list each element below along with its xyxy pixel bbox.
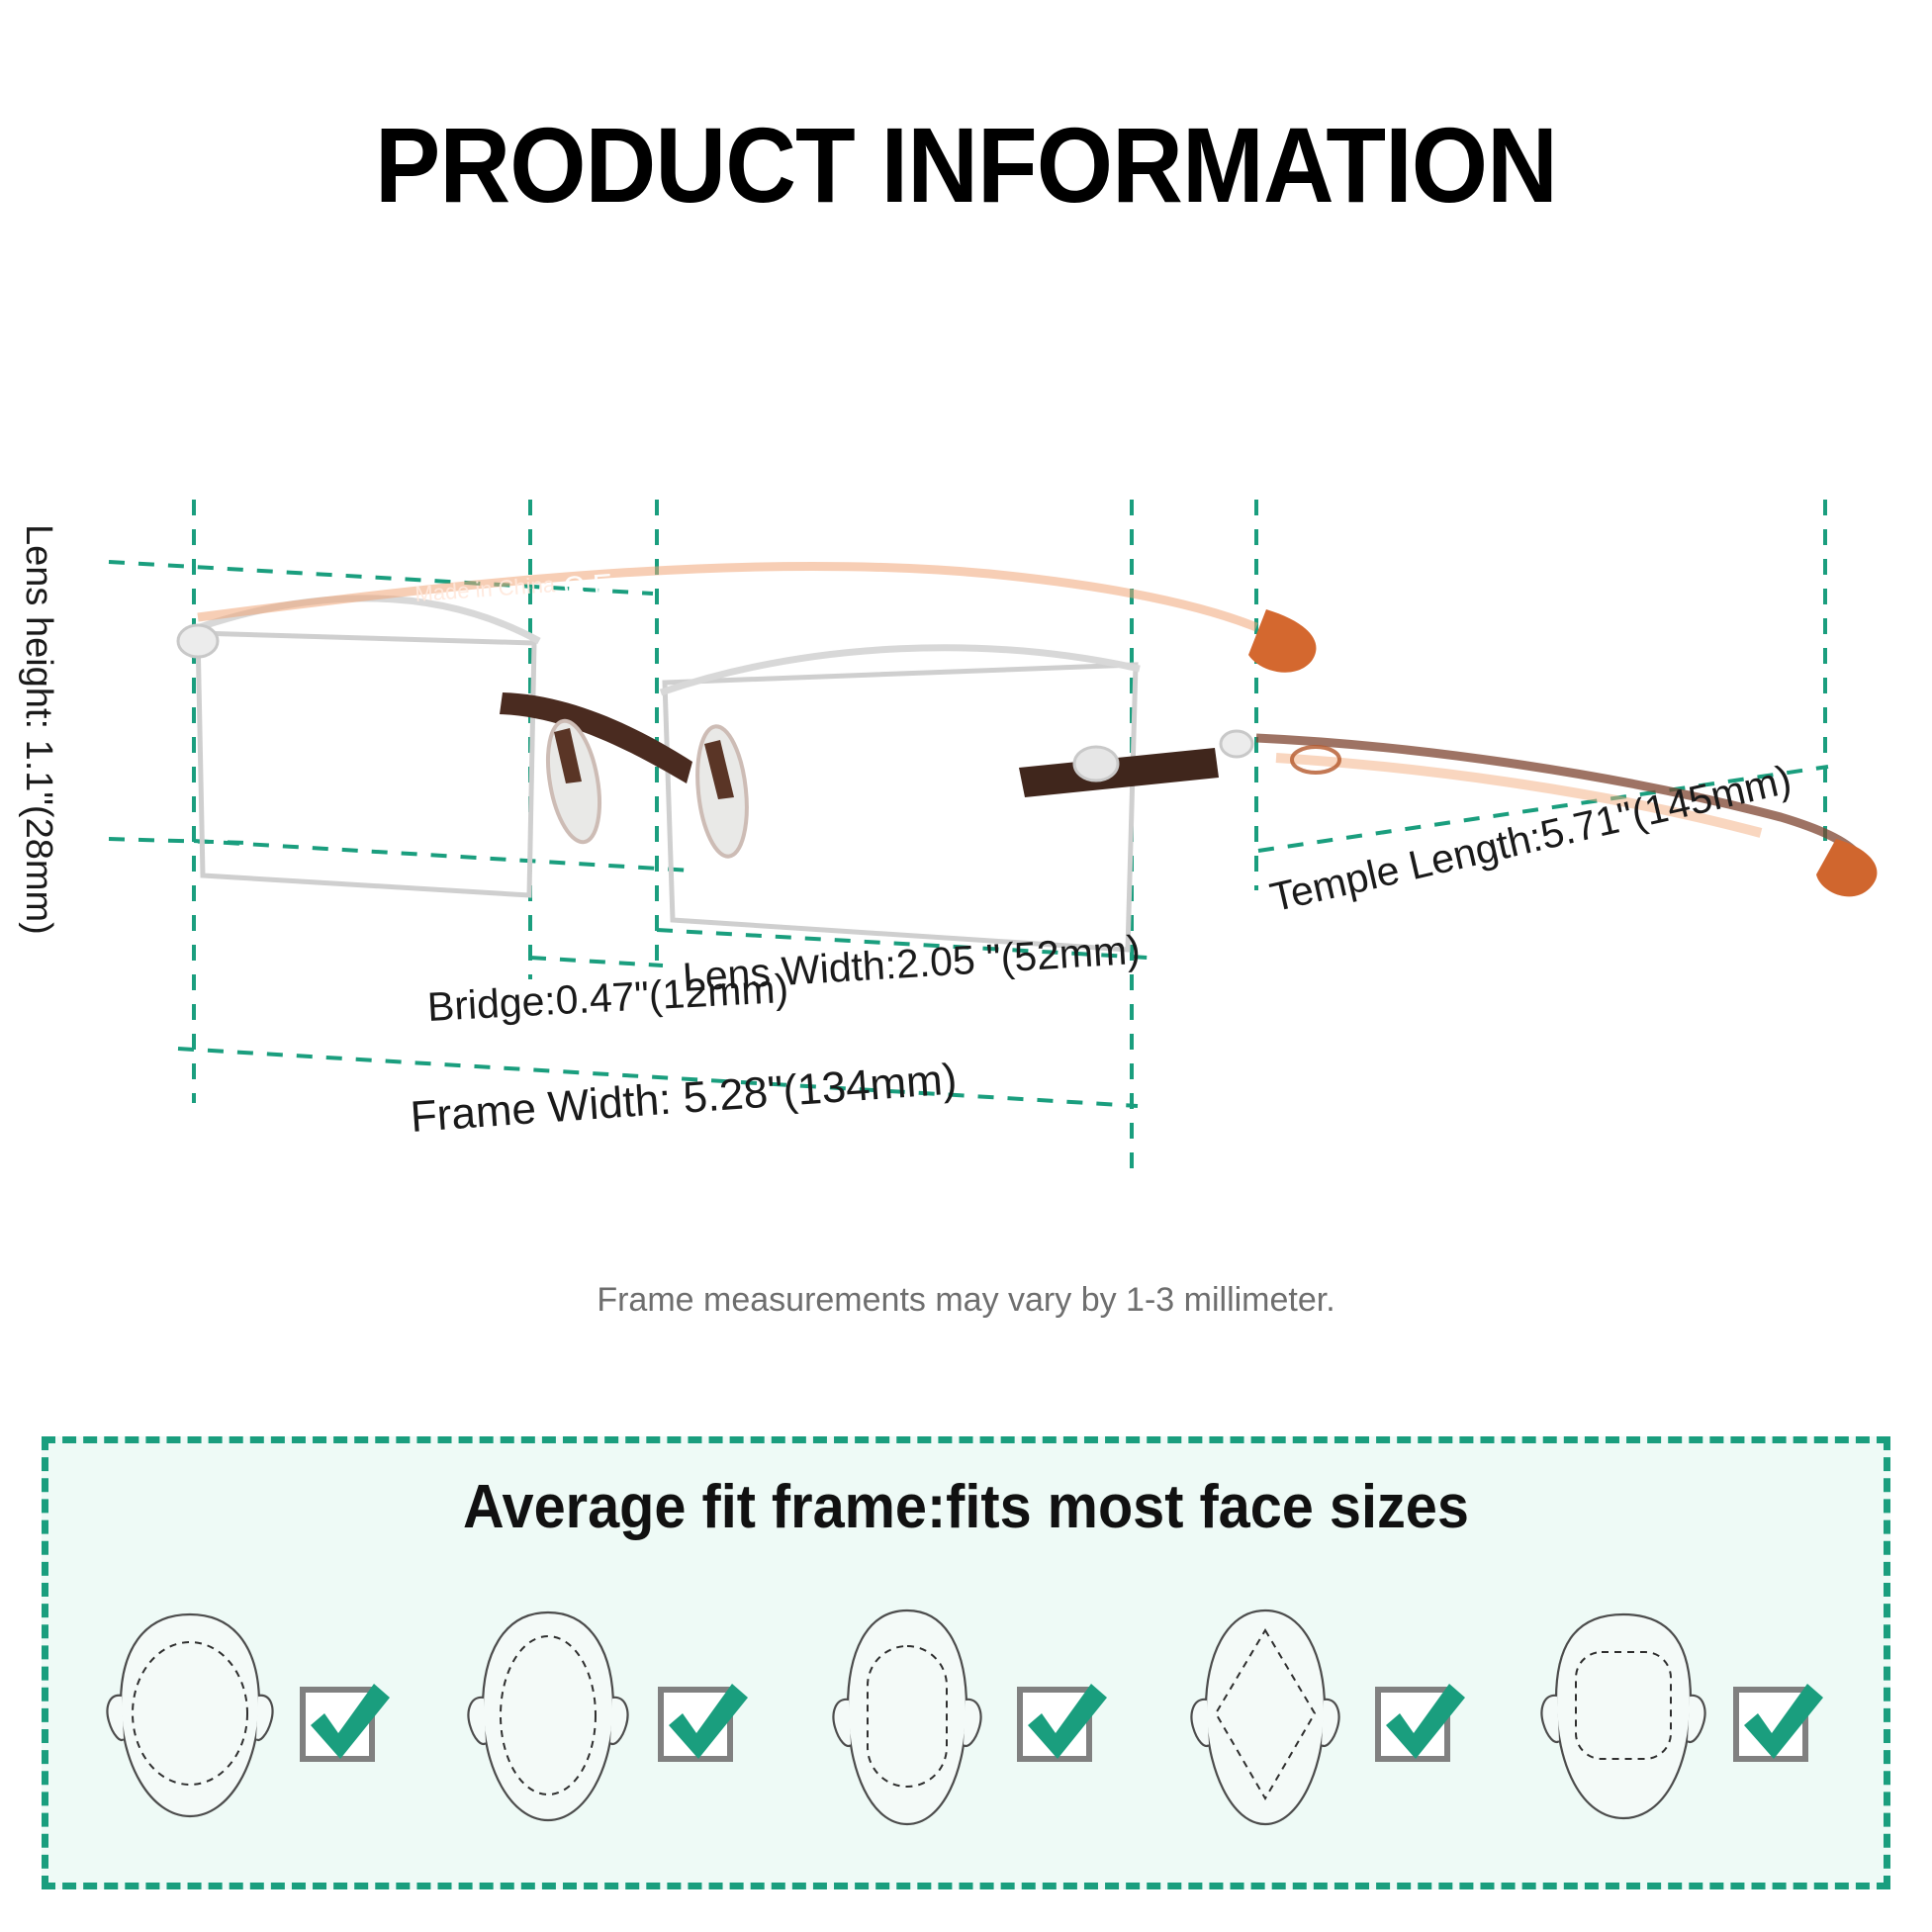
face-shape-item-oblong[interactable]: [818, 1605, 1115, 1832]
product-information-page: PRODUCT INFORMATION: [0, 0, 1932, 1932]
glasses-photo: Made in China C E: [144, 553, 1877, 950]
ce-mark-text: C E: [562, 569, 613, 604]
guide-bridge-line: [530, 958, 663, 966]
checkmark-icon[interactable]: [1364, 1664, 1473, 1773]
checkmark-icon[interactable]: [647, 1664, 756, 1773]
face-oblong-icon: [818, 1605, 996, 1832]
right-nose-hinge: [1074, 747, 1118, 781]
checkmark-icon[interactable]: [1006, 1664, 1115, 1773]
measurement-note: Frame measurements may vary by 1-3 milli…: [0, 1281, 1932, 1320]
fit-panel-heading: Average fit frame:fits most face sizes: [106, 1472, 1825, 1542]
face-shape-list: [101, 1595, 1831, 1842]
face-shape-item-oval[interactable]: [459, 1605, 756, 1832]
diagram-canvas: Made in China C E: [0, 0, 1932, 1385]
face-oval-icon: [459, 1605, 637, 1832]
lens-height-label: Lens height: 1.1"(28mm): [17, 524, 59, 935]
left-lens: [198, 633, 534, 895]
face-shape-item-diamond[interactable]: [1176, 1605, 1473, 1832]
checkmark-icon[interactable]: [1722, 1664, 1831, 1773]
fit-panel: Average fit frame:fits most face sizes: [42, 1436, 1890, 1889]
face-shape-item-square[interactable]: [1534, 1605, 1831, 1832]
glasses-measurement-diagram: Made in China C E Lens height: 1.1"(28mm…: [0, 0, 1932, 1385]
face-shape-item-round[interactable]: [101, 1605, 398, 1832]
checkmark-icon[interactable]: [289, 1664, 398, 1773]
face-diamond-icon: [1176, 1605, 1354, 1832]
face-round-icon: [101, 1605, 279, 1832]
face-square-icon: [1534, 1605, 1712, 1832]
